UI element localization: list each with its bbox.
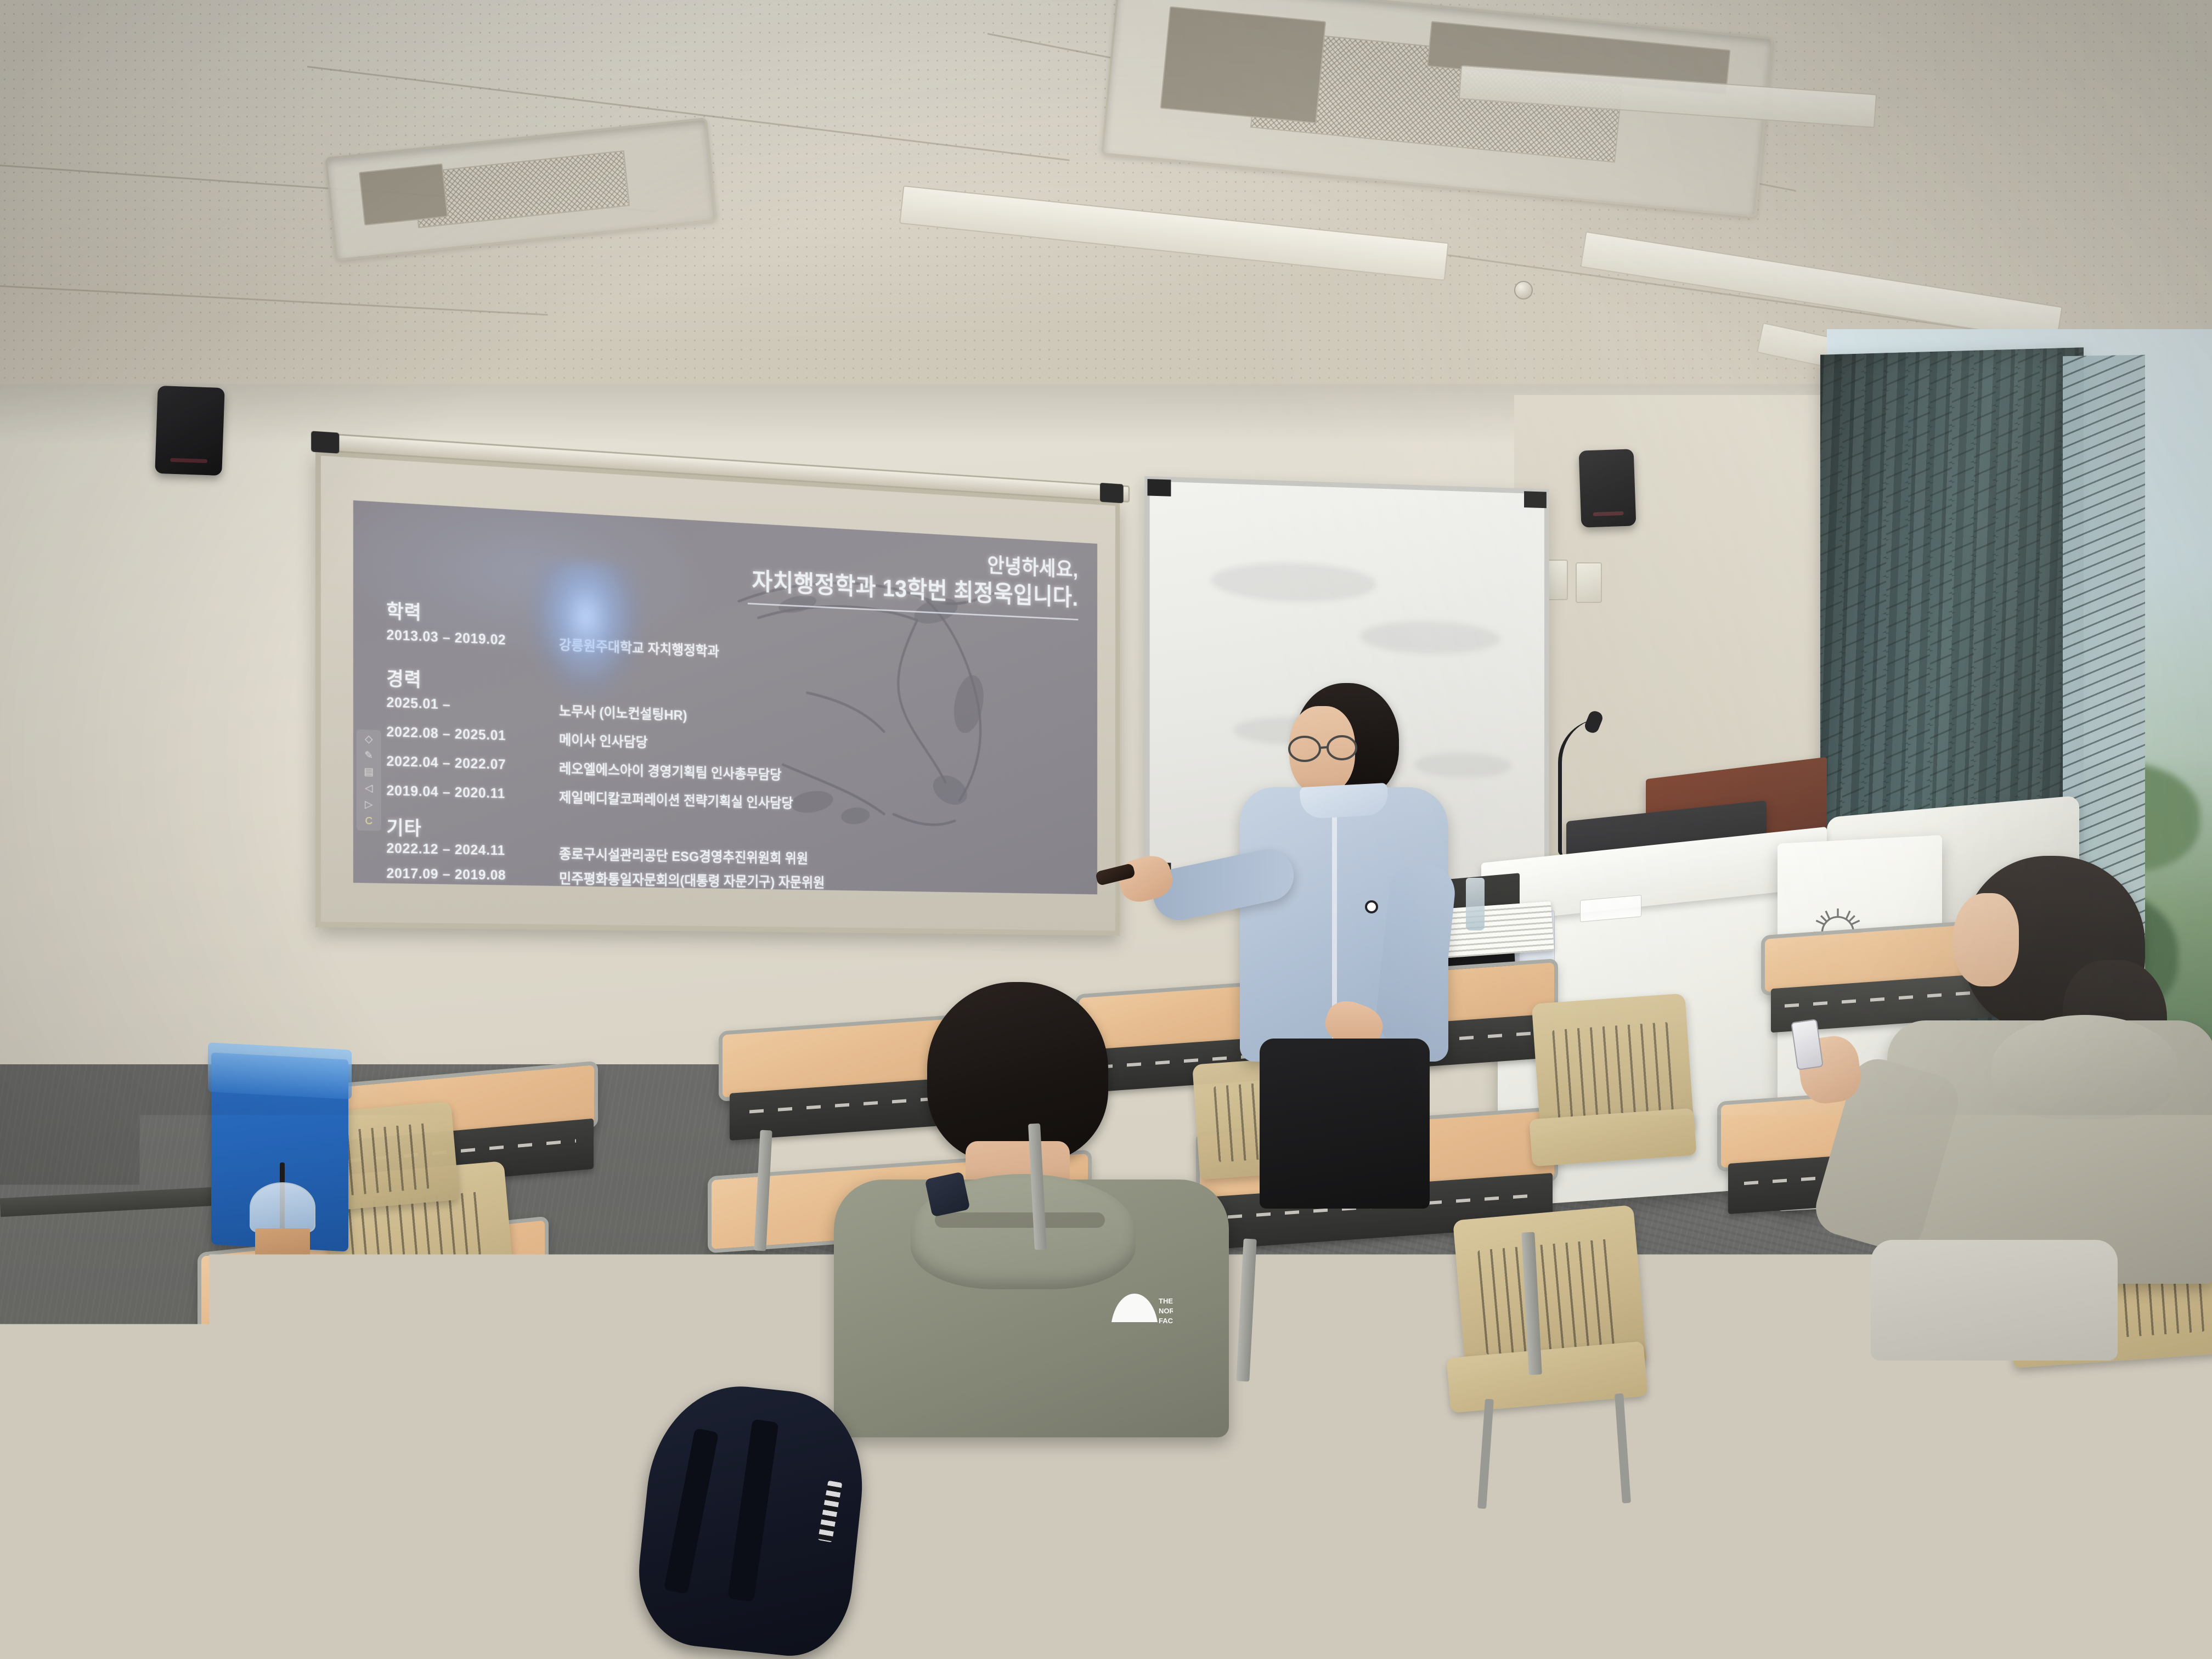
svg-text:THE: THE — [1159, 1297, 1173, 1305]
prev-icon[interactable]: ◁ — [365, 783, 373, 793]
chair-frontrow-left[interactable] — [184, 1394, 408, 1579]
row-date: 2019.04 – 2020.11 — [386, 782, 559, 806]
svg-text:FACE: FACE — [1159, 1317, 1173, 1325]
next-icon[interactable]: ▷ — [365, 799, 373, 810]
cup-body — [255, 1228, 311, 1292]
row-date: 2017.09 – 2019.08 — [386, 865, 559, 888]
row-date: 2013.03 – 2019.02 — [386, 627, 559, 654]
row-desc: 민주평화통일자문회의(대통령 자문기구) 자문위원 — [559, 868, 825, 891]
whiteboard-corner-tr — [1524, 491, 1547, 508]
row-date: 2025.01 – — [386, 694, 559, 720]
fire-sprinkler-icon — [1514, 281, 1533, 300]
whiteboard-corner-tl — [1148, 479, 1171, 496]
backpack-strap — [727, 1419, 778, 1601]
chair-slats — [1552, 1022, 1675, 1120]
wall-outlet-plate-2[interactable] — [1576, 562, 1602, 603]
north-face-logo: THE NORTH FACE — [1108, 1289, 1173, 1332]
backpack-strap — [664, 1428, 719, 1594]
classroom-photo: 안녕하세요, 자치행정학과 13학번 최정욱입니다. 학력 2013.03 – … — [0, 0, 2212, 1659]
chair-slats — [212, 1429, 381, 1554]
slide-row-career-1: 2022.08 – 2025.01 메이사 인사담당 — [386, 723, 647, 752]
wall-speaker-right — [1579, 449, 1637, 527]
slide-section-heading-education: 학력 — [386, 596, 421, 625]
svg-text:NORTH: NORTH — [1159, 1307, 1173, 1315]
row-desc: 메이사 인사담당 — [559, 729, 648, 752]
student-center-head — [927, 982, 1108, 1163]
presenter-trousers — [1260, 1039, 1430, 1209]
wall-speaker-left — [155, 386, 225, 476]
slide-row-career-0: 2025.01 – 노무사 (이노컨설팅HR) — [386, 694, 687, 725]
student-right-seated — [1772, 856, 2194, 1350]
shirt-logo — [1365, 900, 1378, 913]
chair-slats — [1477, 1238, 1623, 1355]
smartphone[interactable] — [1791, 1019, 1824, 1070]
slide-presenter-toolbar[interactable]: ◇ ✎ ▤ ◁ ▷ C — [357, 729, 381, 831]
student-right-face — [1953, 893, 2019, 986]
student-right-trousers — [1871, 1240, 2118, 1361]
chair-backrest — [184, 1394, 408, 1579]
screen-roller-cap-left — [311, 431, 339, 453]
student-right-hood — [1991, 1015, 2178, 1119]
cup-dome-lid — [250, 1182, 315, 1233]
glasses-icon — [1285, 733, 1362, 764]
projected-slide: 안녕하세요, 자치행정학과 13학번 최정욱입니다. 학력 2013.03 – … — [353, 500, 1097, 894]
slide-row-education-0: 2013.03 – 2019.02 강릉원주대학교 자치행정학과 — [386, 627, 719, 661]
pen-icon[interactable]: ✎ — [364, 751, 373, 761]
slide-section-heading-other: 기타 — [386, 812, 421, 841]
row-date: 2022.12 – 2024.11 — [386, 840, 559, 863]
row-desc: 강릉원주대학교 자치행정학과 — [559, 634, 719, 661]
screen-roller-cap-right — [1100, 483, 1124, 503]
row-date: 2022.08 – 2025.01 — [386, 723, 559, 749]
projector-hotspot-glare — [527, 558, 645, 702]
pointer-icon[interactable]: ◇ — [365, 734, 373, 744]
laser-icon[interactable]: C — [365, 816, 372, 826]
slide-section-heading-career: 경력 — [386, 663, 421, 692]
projection-screen: 안녕하세요, 자치행정학과 13학번 최정욱입니다. 학력 2013.03 – … — [315, 450, 1120, 936]
trash-bin-liner — [208, 1042, 352, 1099]
inner-collar — [924, 1171, 970, 1217]
hood-fold — [935, 1212, 1105, 1228]
row-date: 2022.04 – 2022.07 — [386, 753, 559, 778]
iced-coffee-cup — [250, 1182, 315, 1292]
menu-icon[interactable]: ▤ — [364, 767, 374, 777]
row-desc: 노무사 (이노컨설팅HR) — [559, 700, 687, 724]
